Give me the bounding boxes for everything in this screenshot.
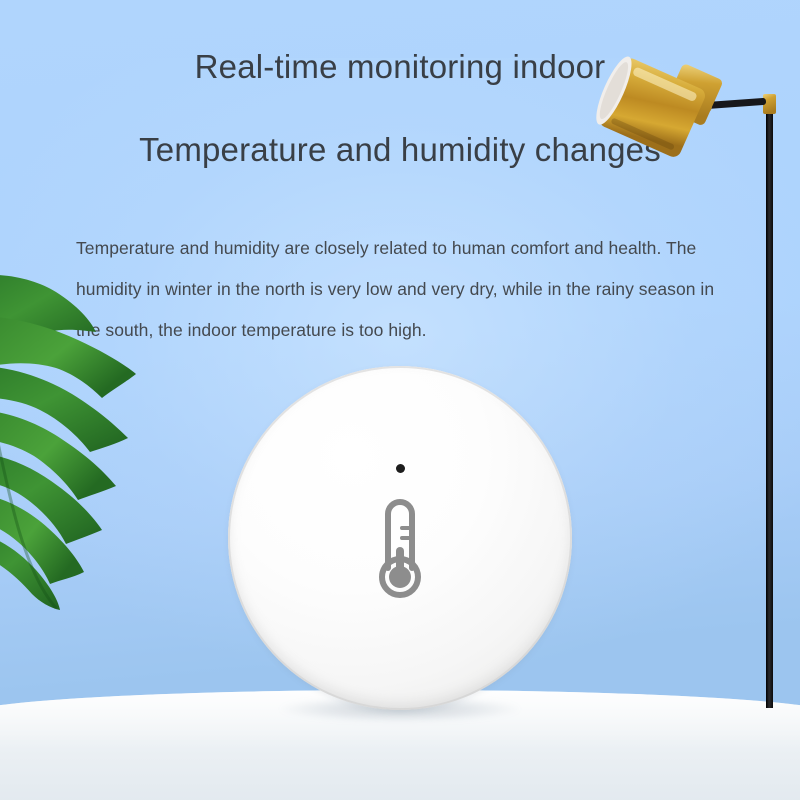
thermometer-icon: [364, 492, 436, 602]
floor-lamp: [612, 38, 800, 728]
product-banner-scene: Real-time monitoring indoor Temperature …: [0, 0, 800, 800]
led-indicator: [396, 464, 405, 473]
temperature-humidity-sensor[interactable]: [228, 366, 572, 710]
monstera-leaf: [0, 258, 166, 618]
